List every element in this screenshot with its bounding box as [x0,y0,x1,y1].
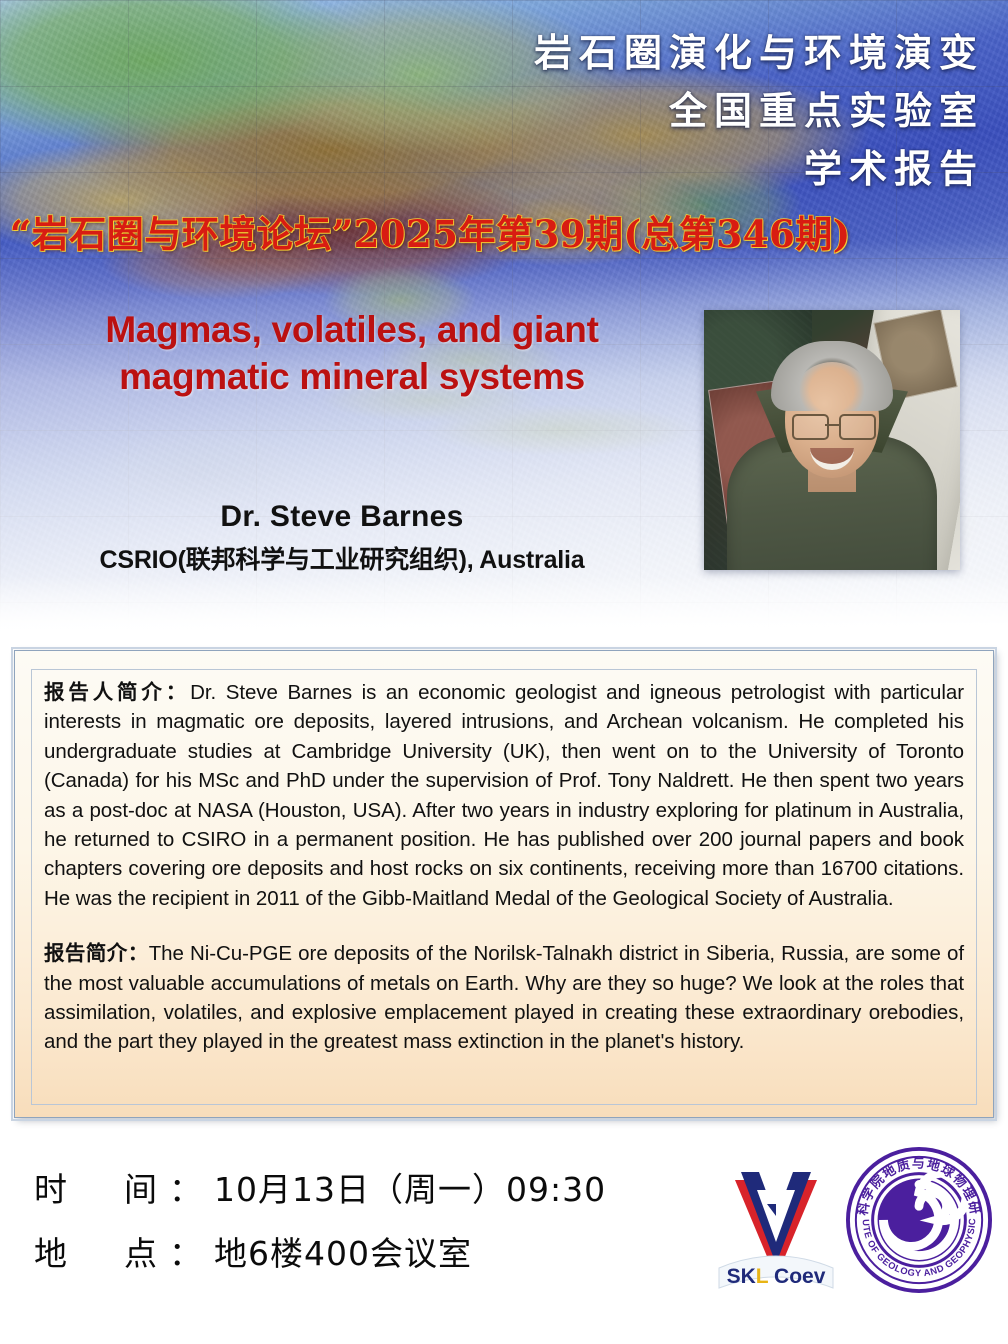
speaker-block: Dr. Steve Barnes CSRIO(联邦科学与工业研究组织), Aus… [22,497,662,578]
skl-coev-logo: SKL Coev [715,1146,837,1296]
place-label: 地 点： [34,1234,214,1273]
skl-coev-logo-icon: SKL Coev [715,1146,837,1296]
place-row: 地 点：地6楼400会议室 [34,1222,606,1286]
igg-cas-seal: 中国科学院地质与地球物理研究所 INSTITUTE OF GEOLOGY AND… [845,1145,993,1295]
photo-person-glasses-left [792,414,829,440]
abstract-text: The Ni-Cu-PGE ore deposits of the Norils… [44,942,964,1053]
info-text-box: 报告人简介：Dr. Steve Barnes is an economic ge… [14,650,994,1118]
place-value: 地6楼400会议室 [214,1234,472,1273]
igg-cas-seal-icon: 中国科学院地质与地球物理研究所 INSTITUTE OF GEOLOGY AND… [845,1145,993,1295]
lab-title-line-3: 学术报告 [424,140,984,198]
bio-text: Dr. Steve Barnes is an economic geologis… [44,681,964,910]
time-row: 时 间：10月13日（周一）09:30 [34,1158,606,1222]
lab-title-line-2: 全国重点实验室 [424,82,984,140]
map-bottom-fade [0,576,1008,636]
bio-paragraph: 报告人简介：Dr. Steve Barnes is an economic ge… [44,678,964,913]
talk-title-line-1: Magmas, volatiles, and giant [32,306,672,353]
talk-title: Magmas, volatiles, and giant magmatic mi… [32,306,672,400]
seminar-poster: 岩石圈演化与环境演变 全国重点实验室 学术报告 “岩石圈与环境论坛”2025年第… [0,0,1008,1344]
speaker-name: Dr. Steve Barnes [22,497,662,537]
photo-person-glasses-bridge [825,424,839,426]
time-value: 10月13日（周一）09:30 [214,1170,606,1209]
abstract-paragraph: 报告简介：The Ni-Cu-PGE ore deposits of the N… [44,939,964,1057]
abstract-label: 报告简介： [44,941,149,965]
forum-series-banner: “岩石圈与环境论坛”2025年第39期(总第346期) [10,212,851,256]
talk-title-line-2: magmatic mineral systems [32,353,672,400]
time-label: 时 间： [34,1170,214,1209]
info-text-box-inner: 报告人简介：Dr. Steve Barnes is an economic ge… [31,669,977,1105]
lab-title-line-1: 岩石圈演化与环境演变 [424,24,984,82]
photo-person-glasses-right [839,414,876,440]
skl-coev-logo-text: SKL Coev [727,1265,826,1288]
footer-details: 时 间：10月13日（周一）09:30 地 点：地6楼400会议室 [34,1158,606,1286]
bio-label: 报告人简介： [44,680,190,704]
speaker-affiliation: CSRIO(联邦科学与工业研究组织), Australia [22,542,662,578]
speaker-photo [704,310,960,570]
lab-header-title: 岩石圈演化与环境演变 全国重点实验室 学术报告 [424,24,984,198]
